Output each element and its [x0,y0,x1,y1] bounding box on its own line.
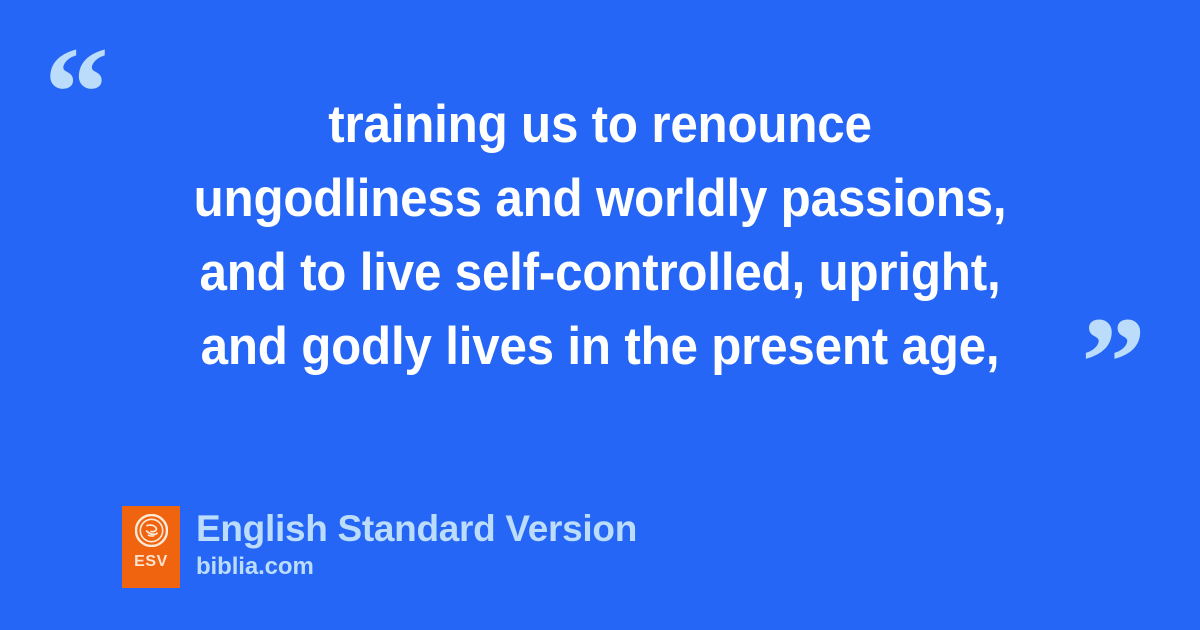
verse-text-block: training us to renounce ungodliness and … [60,88,1140,384]
verse-line: ungodliness and worldly passions, [98,162,1102,236]
esv-logo-abbreviation: ESV [134,554,168,570]
verse-line: and godly lives in the present age, [98,310,1102,384]
bible-version-name: English Standard Version [196,507,637,551]
closing-quote-icon: ” [1081,298,1146,428]
attribution-footer: ESV English Standard Version biblia.com [122,506,637,588]
verse-quote-card: “ training us to renounce ungodliness an… [0,0,1200,630]
verse-line: and to live self-controlled, upright, [98,236,1102,310]
site-url-label: biblia.com [196,552,637,582]
verse-line: training us to renounce [98,88,1102,162]
attribution-text: English Standard Version biblia.com [196,506,637,582]
esv-seal-emblem-icon [135,514,168,547]
esv-logo-badge: ESV [122,506,180,588]
